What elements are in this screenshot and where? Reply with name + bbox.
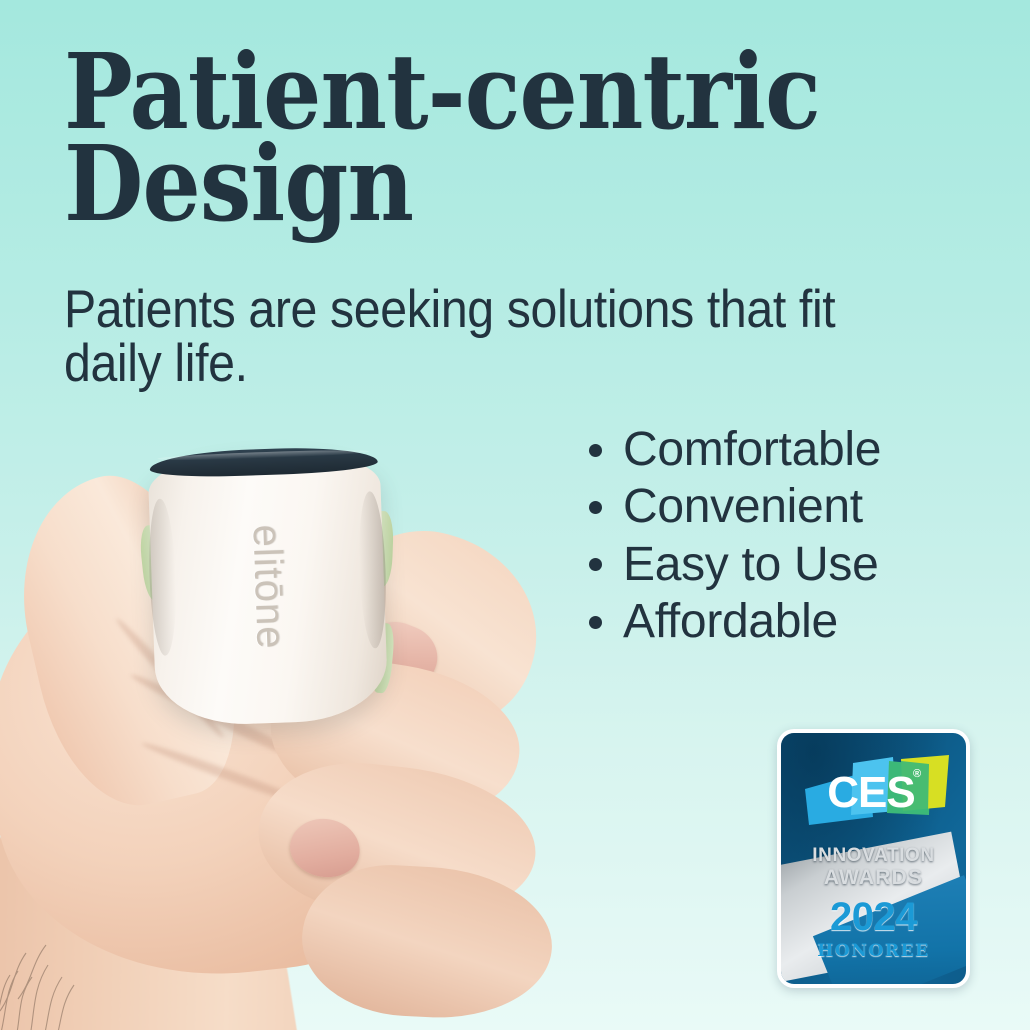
ces-award-title: INNOVATION AWARDS: [781, 845, 966, 890]
subheading: Patients are seeking solutions that fit …: [64, 283, 865, 391]
ces-award-title-line-1: INNOVATION: [781, 845, 966, 866]
ces-innovation-award-badge: CES ® INNOVATION AWARDS 2024 HONOREE: [777, 729, 970, 988]
ces-award-tier: HONOREE: [781, 941, 966, 961]
benefit-label: Convenient: [623, 480, 863, 533]
ces-award-year: 2024: [781, 895, 966, 940]
elitone-device: elitōne: [147, 447, 388, 727]
product-photo: elitōne: [0, 415, 610, 1030]
subheading-line-1: Patients are seeking solutions that fit: [64, 283, 865, 337]
list-item: Easy to Use: [586, 536, 881, 593]
promo-slide: Patient-centric Design Patients are seek…: [0, 0, 1030, 1030]
ces-logo-icon: CES ®: [781, 749, 966, 835]
benefits-list: Comfortable Convenient Easy to Use Affor…: [586, 421, 881, 650]
list-item: Convenient: [586, 478, 881, 535]
ces-badge-inner: CES ® INNOVATION AWARDS 2024 HONOREE: [781, 733, 966, 984]
subheading-line-2: daily life.: [64, 337, 865, 391]
list-item: Comfortable: [586, 421, 881, 478]
benefit-label: Easy to Use: [623, 538, 878, 591]
list-item: Affordable: [586, 593, 881, 650]
benefit-label: Affordable: [623, 595, 838, 648]
benefit-label: Comfortable: [623, 423, 881, 476]
ces-award-title-line-2: AWARDS: [781, 866, 966, 890]
svg-text:CES: CES: [827, 768, 914, 817]
page-title: Patient-centric Design: [64, 46, 733, 229]
device-brand-label: elitōne: [243, 524, 292, 650]
svg-text:®: ®: [913, 768, 921, 780]
